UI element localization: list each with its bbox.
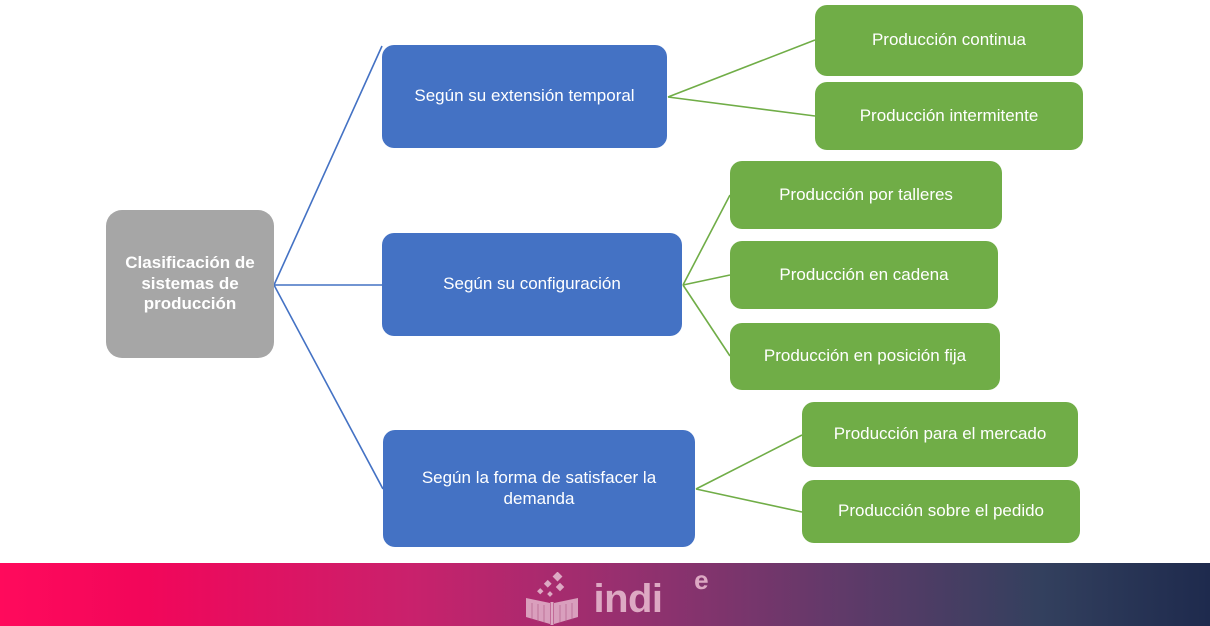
connector-root-branch-1	[274, 46, 382, 285]
connector-branch-3-leaf-2	[696, 489, 802, 512]
node-branch-satisfacer-demanda[interactable]: Según la forma de satisfacer la demanda	[383, 430, 695, 547]
node-root[interactable]: Clasificación de sistemas de producción	[106, 210, 274, 358]
connector-branch-2-leaf-3	[683, 285, 730, 356]
node-leaf-1-1-label: Producción continua	[872, 30, 1026, 51]
connector-branch-3-leaf-1	[696, 435, 802, 489]
node-branch-3-label: Según la forma de satisfacer la demanda	[393, 468, 685, 509]
brand-wordmark: indi	[593, 577, 662, 621]
brand-lockup: indi e	[523, 572, 686, 626]
node-branch-configuracion[interactable]: Según su configuración	[382, 233, 682, 336]
connector-branch-2-leaf-1	[683, 195, 730, 285]
connector-branch-1-leaf-1	[668, 40, 815, 97]
node-leaf-produccion-por-talleres[interactable]: Producción por talleres	[730, 161, 1002, 229]
node-leaf-produccion-intermitente[interactable]: Producción intermitente	[815, 82, 1083, 150]
node-leaf-produccion-sobre-el-pedido[interactable]: Producción sobre el pedido	[802, 480, 1080, 543]
node-leaf-3-2-label: Producción sobre el pedido	[838, 501, 1044, 522]
node-branch-1-label: Según su extensión temporal	[414, 86, 634, 107]
connector-branch-1-leaf-2	[668, 97, 815, 116]
node-leaf-produccion-en-cadena[interactable]: Producción en cadena	[730, 241, 998, 309]
node-leaf-produccion-en-posicion-fija[interactable]: Producción en posición fija	[730, 323, 1000, 390]
node-root-label: Clasificación de sistemas de producción	[116, 253, 264, 315]
connector-root-branch-3	[274, 285, 383, 489]
node-leaf-3-1-label: Producción para el mercado	[834, 424, 1047, 445]
node-branch-extension-temporal[interactable]: Según su extensión temporal	[382, 45, 667, 148]
slide-canvas: Clasificación de sistemas de producción …	[0, 0, 1210, 626]
node-leaf-2-2-label: Producción en cadena	[779, 265, 948, 286]
node-leaf-produccion-para-el-mercado[interactable]: Producción para el mercado	[802, 402, 1078, 467]
open-book-sparkles-icon	[523, 572, 581, 626]
brand-bar: indi e	[0, 563, 1210, 626]
brand-superscript-e: e	[694, 567, 708, 593]
node-leaf-2-3-label: Producción en posición fija	[764, 346, 966, 367]
node-leaf-2-1-label: Producción por talleres	[779, 185, 953, 206]
node-leaf-produccion-continua[interactable]: Producción continua	[815, 5, 1083, 76]
node-leaf-1-2-label: Producción intermitente	[860, 106, 1039, 127]
node-branch-2-label: Según su configuración	[443, 274, 621, 295]
connector-branch-2-leaf-2	[683, 275, 730, 285]
brand-word-wrap: indi e	[593, 579, 686, 619]
